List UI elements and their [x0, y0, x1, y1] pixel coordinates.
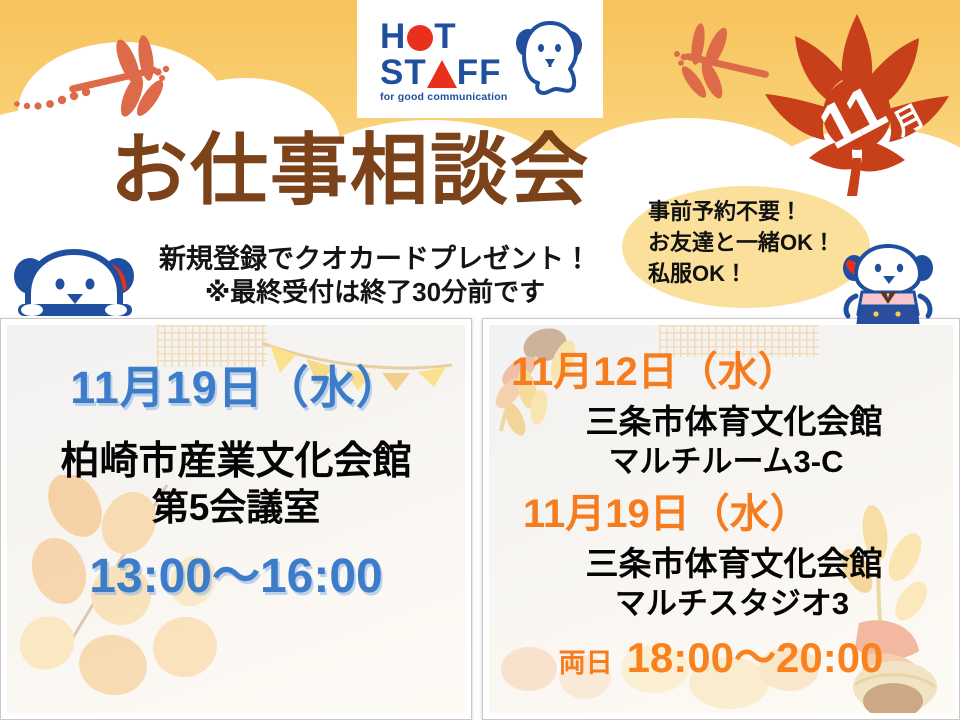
logo-line-staff: STFF: [380, 55, 520, 91]
event-panel-sanjo[interactable]: 11月12日（水） 三条市体育文化会館 マルチルーム3-C 11月19日（水） …: [482, 318, 960, 720]
mascot-worker-icon: [838, 242, 938, 324]
logo-a-triangle: [427, 60, 457, 88]
hot-staff-logo: HT STFF for good communication: [357, 0, 603, 118]
logo-wordmark: HT STFF: [380, 19, 520, 91]
subtitle-block: 新規登録でクオカードプレゼント！ ※最終受付は終了30分前です: [110, 243, 640, 309]
mascot-peeking-icon: [12, 246, 138, 320]
event-room: 第5会議室: [7, 485, 465, 530]
event-room: マルチルーム3-C: [489, 442, 953, 481]
logo-t: T: [434, 17, 456, 56]
event-venue: 三条市体育文化会館: [489, 543, 953, 584]
logo-mascot-icon: [512, 17, 588, 97]
event-time-row: 両日 18:00〜20:00: [489, 633, 953, 683]
event-time: 18:00〜20:00: [627, 633, 884, 683]
event-time: 13:00〜16:00: [7, 548, 465, 606]
dragonfly-left-icon: [10, 28, 190, 118]
bubble-line-1: 事前予約不要！: [648, 196, 878, 227]
logo-inner: HT STFF for good communication: [372, 11, 588, 107]
logo-st: ST: [380, 53, 427, 92]
logo-ff: FF: [457, 53, 502, 92]
subtitle-line-1: 新規登録でクオカードプレゼント！: [110, 243, 640, 276]
panel-inner-left: 11月19日（水） 柏崎市産業文化会館 第5会議室 13:00〜16:00: [7, 325, 465, 713]
logo-tagline: for good communication: [380, 91, 507, 103]
logo-o-dot: [407, 25, 433, 51]
logo-h: H: [380, 17, 406, 56]
month-badge-maple: 11月: [757, 8, 957, 198]
page-title: お仕事相談会: [0, 128, 700, 212]
event-date: 11月19日（水）: [7, 359, 465, 417]
maple-month-label: 11月: [757, 8, 957, 198]
poster-root: HT STFF for good communication: [0, 0, 960, 720]
logo-line-hot: HT: [380, 19, 520, 55]
panel-left-content: 11月19日（水） 柏崎市産業文化会館 第5会議室 13:00〜16:00: [7, 359, 465, 606]
panel-right-content: 11月12日（水） 三条市体育文化会館 マルチルーム3-C 11月19日（水） …: [489, 347, 953, 683]
subtitle-line-2: ※最終受付は終了30分前です: [110, 276, 640, 309]
panel-inner-right: 11月12日（水） 三条市体育文化会館 マルチルーム3-C 11月19日（水） …: [489, 325, 953, 713]
event-venue: 柏崎市産業文化会館: [7, 439, 465, 485]
event-room: マルチスタジオ3: [489, 584, 953, 623]
event-panel-kashiwazaki[interactable]: 11月19日（水） 柏崎市産業文化会館 第5会議室 13:00〜16:00: [0, 318, 472, 720]
time-prefix-label: 両日: [559, 641, 613, 680]
event-date: 11月12日（水）: [489, 347, 953, 397]
event-date: 11月19日（水）: [489, 489, 953, 539]
event-venue: 三条市体育文化会館: [489, 401, 953, 442]
